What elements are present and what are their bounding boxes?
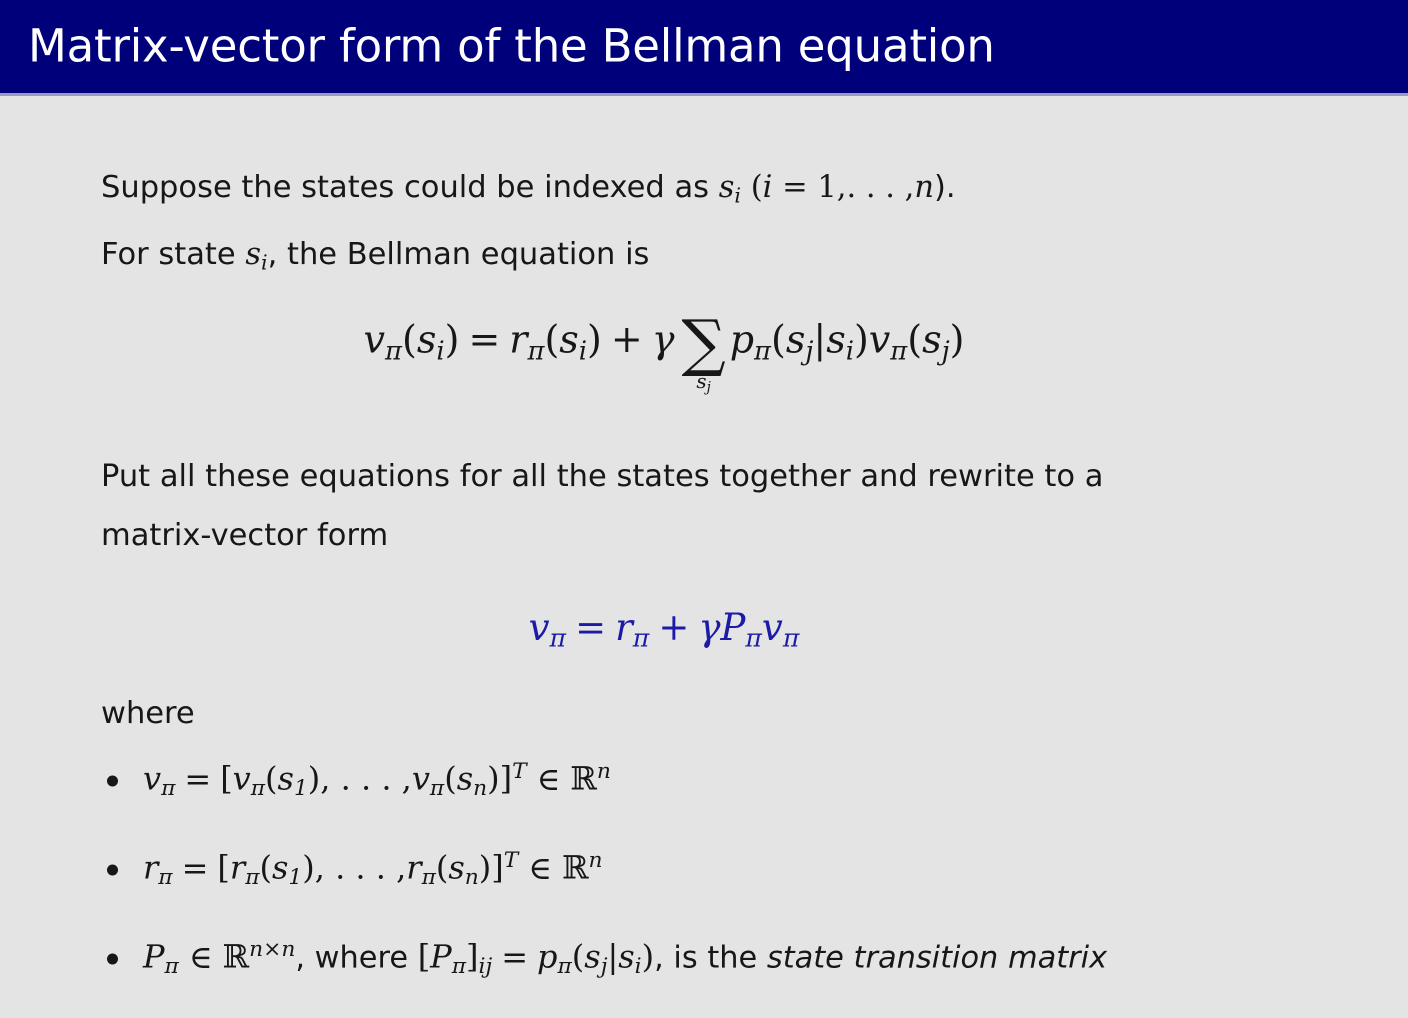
p2-line2: matrix-vector form (101, 518, 388, 553)
b2-r1: r (230, 849, 245, 887)
b3-index: ij (478, 954, 492, 979)
p1-value-one: 1, (817, 170, 846, 205)
paragraph-rewrite-line2: matrix-vector form (101, 506, 1227, 565)
b2-r: r (143, 849, 158, 887)
b1-vn-s-sub: n (473, 776, 487, 801)
b1-bracket-close: ] (500, 760, 512, 798)
eq1-sum-limit-sub: j (707, 379, 711, 395)
eq1-v: v (364, 317, 385, 361)
paragraph-rewrite-line1: Put all these equations for all the stat… (101, 447, 1227, 506)
b1-dimension: n (597, 759, 611, 784)
b3-p: p (537, 938, 557, 976)
eq1-paren-close: ) (445, 317, 460, 361)
b2-r1-s: s (272, 849, 288, 887)
paragraph-bellman-intro: For state si, the Bellman equation is (101, 225, 1227, 292)
b2-rn-s-sub: n (465, 865, 479, 890)
b2-reals: ℝ (562, 849, 589, 887)
eq1-s: s (417, 317, 437, 361)
eq2-r: r (615, 606, 633, 649)
eq1-plus: + (611, 317, 643, 361)
b2-r1-paren-close: ) (302, 849, 314, 887)
eq2-v-pi: π (550, 623, 567, 652)
p1-symbol-n: n (914, 170, 934, 205)
b3-tail-italic: state transition matrix (767, 941, 1107, 976)
b1-vn-pi: π (430, 776, 444, 801)
p1-symbol-s: s (719, 170, 735, 205)
b3-element-of: ∈ (189, 938, 213, 976)
slide-title-bar: Matrix-vector form of the Bellman equati… (0, 0, 1408, 93)
eq2-v2: v (762, 606, 783, 649)
p2-line1: Put all these equations for all the stat… (101, 459, 1103, 494)
b2-rn-paren-open: ( (436, 849, 448, 887)
b3-P2-pi: π (452, 954, 466, 979)
eq1-paren-open: ( (402, 317, 417, 361)
eq1-v2-paren-open: ( (907, 317, 922, 361)
eq1-p: p (730, 317, 754, 361)
eq1-p-s1: s (786, 317, 806, 361)
b1-vn-paren-close: ) (487, 760, 499, 798)
b3-p-paren-close: ) (642, 938, 654, 976)
eq2-v2-pi: π (783, 623, 800, 652)
p1-text-before: Suppose the states could be indexed as (101, 170, 719, 205)
p1-line2-symbol-s-subscript: i (261, 251, 268, 275)
eq1-sum-limit: sj (681, 371, 725, 395)
eq1-v2-pi: π (890, 336, 907, 366)
where-label: where (101, 694, 1227, 734)
b2-element-of: ∈ (528, 849, 552, 887)
b1-v1-s: s (278, 760, 294, 798)
b2-ellipsis: , . . . , (315, 849, 407, 887)
eq2-P-pi: π (745, 623, 762, 652)
eq1-r: r (509, 317, 527, 361)
b2-bracket-close: ] (491, 849, 503, 887)
eq1-p-bar: | (813, 317, 826, 361)
b1-vn: v (412, 760, 430, 798)
b3-p-paren-open: ( (572, 938, 584, 976)
paragraph-states-indexed: Suppose the states could be indexed as s… (101, 158, 1227, 225)
b3-reals: ℝ (223, 938, 250, 976)
b1-v1-paren-open: ( (265, 760, 277, 798)
slide-body: Suppose the states could be indexed as s… (101, 96, 1227, 1016)
eq1-v2-paren-close: ) (950, 317, 965, 361)
b2-rn-s: s (448, 849, 464, 887)
b2-dimension: n (589, 848, 603, 873)
eq1-r-s: s (559, 317, 579, 361)
bullet-dot-icon (107, 864, 118, 875)
b1-vn-s: s (457, 760, 473, 798)
eq1-r-s-sub: i (579, 336, 587, 366)
p1-equals: = (772, 170, 817, 205)
b3-P: P (143, 938, 165, 976)
equation-matrix-vector-form: vπ=rπ+γPπvπ (101, 609, 1227, 651)
b3-tail-plain: , is the (654, 941, 767, 976)
b3-P-pi: π (165, 954, 179, 979)
b3-bracket-close: ] (466, 938, 478, 976)
eq1-summation: ∑sj (681, 319, 725, 367)
eq1-p-pi: π (754, 336, 771, 366)
p1-paren-open: ( (741, 170, 763, 205)
eq2-equals: = (575, 606, 606, 649)
eq1-r-paren-open: ( (544, 317, 559, 361)
eq1-r-pi: π (527, 336, 544, 366)
page-title: Matrix-vector form of the Bellman equati… (28, 19, 995, 72)
eq1-s-sub: i (436, 336, 444, 366)
definitions-list: vπ=[vπ(s1), . . . ,vπ(sn)]T∈ℝn rπ=[rπ(s1… (101, 748, 1227, 991)
sigma-icon: ∑ (681, 319, 725, 367)
b2-rn-pi: π (422, 865, 436, 890)
b3-dimension: n×n (249, 937, 295, 962)
b1-v1-pi: π (251, 776, 265, 801)
b3-p-s2: s (618, 938, 634, 976)
eq1-p-s2: s (826, 317, 846, 361)
b3-bracket-open: [ (418, 938, 430, 976)
p1-line2-symbol-s: s (245, 237, 261, 272)
b1-v-pi: π (161, 776, 175, 801)
b1-v1: v (233, 760, 251, 798)
b1-element-of: ∈ (537, 760, 561, 798)
b2-r1-pi: π (245, 865, 259, 890)
b2-bracket-open: [ (217, 849, 229, 887)
bullet-dot-icon (107, 953, 118, 964)
b2-r-pi: π (158, 865, 172, 890)
b1-bracket-open: [ (220, 760, 232, 798)
b3-p-bar: | (607, 938, 618, 976)
eq1-v2-s-sub: j (942, 336, 950, 366)
b2-transpose: T (504, 848, 519, 873)
b1-equals: = (184, 760, 211, 798)
list-item: rπ=[rπ(s1), . . . ,rπ(sn)]T∈ℝn (101, 837, 1227, 902)
b3-p-pi: π (557, 954, 571, 979)
eq1-equals: = (468, 317, 500, 361)
b1-v: v (143, 760, 161, 798)
b1-ellipsis: , . . . , (320, 760, 412, 798)
b2-r1-s-sub: 1 (288, 865, 302, 890)
equation-bellman-state: vπ(si)=rπ(si)+γ∑sjpπ(sj|si)vπ(sj) (101, 319, 1227, 439)
b1-vn-paren-open: ( (444, 760, 456, 798)
eq1-sum-limit-s: s (696, 369, 706, 393)
eq1-gamma: γ (652, 317, 675, 361)
eq2-v: v (529, 606, 550, 649)
p1-ellipsis: . . . , (846, 170, 914, 205)
b3-P2: P (430, 938, 452, 976)
eq2-P: P (720, 606, 745, 649)
eq1-v-pi: π (385, 336, 402, 366)
eq2-plus: + (658, 606, 689, 649)
list-item: vπ=[vπ(s1), . . . ,vπ(sn)]T∈ℝn (101, 748, 1227, 813)
b3-where-text: , where (295, 941, 417, 976)
b1-reals: ℝ (570, 760, 597, 798)
bullet-dot-icon (107, 775, 118, 786)
list-item: Pπ∈ℝn×n, where [Pπ]ij=pπ(sj|si), is the … (101, 926, 1227, 991)
eq1-v2-s: s (922, 317, 942, 361)
p1-text-after: ). (934, 170, 956, 205)
b3-p-s1: s (584, 938, 600, 976)
b3-equals: = (501, 938, 528, 976)
p1-line2-after: , the Bellman equation is (268, 237, 650, 272)
eq1-p-paren-close: ) (854, 317, 869, 361)
eq1-v2: v (869, 317, 890, 361)
eq1-p-s2-sub: i (846, 336, 854, 366)
b2-r1-paren-open: ( (259, 849, 271, 887)
p1-line2-before: For state (101, 237, 245, 272)
p1-symbol-i: i (763, 170, 773, 205)
b1-transpose: T (512, 759, 527, 784)
b1-v1-paren-close: ) (308, 760, 320, 798)
eq2-r-pi: π (633, 623, 650, 652)
b3-p-s2-sub: i (635, 954, 642, 979)
eq1-r-paren-close: ) (587, 317, 602, 361)
b2-rn: r (406, 849, 421, 887)
b1-v1-s-sub: 1 (294, 776, 308, 801)
b2-equals: = (182, 849, 209, 887)
b2-rn-paren-close: ) (479, 849, 491, 887)
eq1-p-paren-open: ( (771, 317, 786, 361)
eq2-gamma: γ (698, 606, 720, 649)
